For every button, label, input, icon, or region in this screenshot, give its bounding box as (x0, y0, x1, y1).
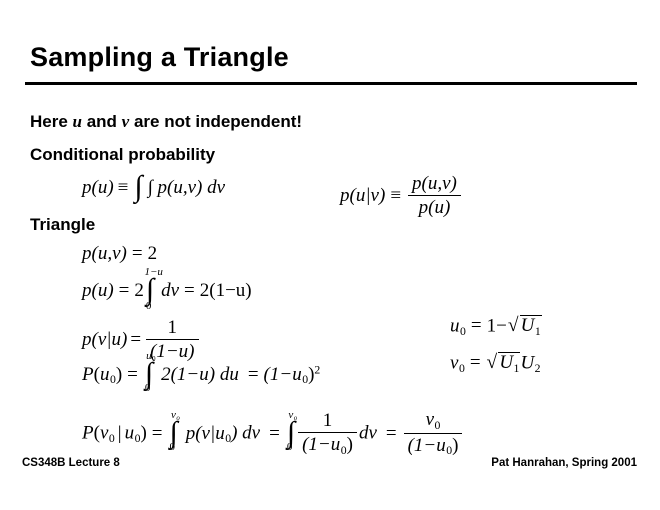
integral-upper-limit-1: 1−u (144, 267, 162, 278)
title-divider (25, 82, 637, 85)
equiv-symbol-2: ≡ (385, 185, 406, 206)
equation-cdf-u: P(u0)=u0∫02(1−u) du=(1−u0)2 (82, 363, 320, 388)
equiv-symbol: ≡ (114, 177, 133, 198)
cdf-v-frac-den-open: (1−u (302, 434, 340, 455)
integral-with-limits-1: 1−u∫0 (146, 278, 154, 303)
footer-lecture-label: CS348B Lecture 8 (22, 457, 120, 469)
cdf-u-symbol: P (82, 364, 94, 385)
fraction-cdf-v-integrand: 1(1−u0) (298, 410, 357, 457)
equals-symbol-1: = (127, 243, 148, 264)
marginal-lhs: p(u) (82, 177, 114, 198)
cdf-v-cond-var: u (125, 423, 135, 444)
int4-upper-sub: o (293, 415, 297, 422)
cdf-u-integrand: 2(1−u) du (154, 364, 239, 385)
cdf-v-frac-num: 1 (298, 410, 357, 433)
equation-joint-density: p(u,v)=2 (82, 244, 157, 263)
equals-symbol-5: = (466, 315, 487, 336)
cdf-v-result-num-sub: 0 (434, 419, 440, 432)
int2-upper-sub: 0 (152, 356, 156, 363)
equals-symbol-10: = (260, 423, 285, 444)
joint-rhs: 2 (148, 243, 158, 264)
cdf-u-result-exponent: 2 (314, 363, 320, 376)
integral-icon: ∫ (134, 175, 142, 199)
cdf-v-result-num: v0 (404, 409, 463, 434)
integral-upper-limit-4: vo (288, 410, 297, 423)
heading-independence-mid: and (82, 112, 122, 131)
radical-icon-2: √ (487, 353, 498, 372)
equals-symbol-2: = (114, 280, 135, 301)
cdf-v-result-den: (1−u0) (404, 434, 463, 458)
sample-v-radicand: U (499, 352, 513, 373)
equation-marginal-u: p(u)=21−u∫0dv=2(1−u) (82, 279, 252, 304)
int2-upper-var: u (146, 350, 152, 362)
cdf-v-integrand-tail: ) dv (231, 423, 260, 444)
cdf-v-symbol: P (82, 423, 94, 444)
cdf-v-var-sub: 0 (108, 432, 114, 445)
equation-sample-u: u0=1−√U1 (450, 315, 542, 338)
marginal-u-result: 2(1−u) (200, 280, 252, 301)
sample-v-lhs-sub: 0 (458, 362, 464, 375)
heading-independence-suffix: are not independent! (129, 112, 302, 131)
heading-triangle: Triangle (30, 215, 95, 235)
marginal-u-lhs: p(u) (82, 280, 114, 301)
integral-upper-limit-2: u0 (146, 351, 155, 364)
equals-symbol-8: = (239, 364, 264, 385)
sample-v-radicand-sub: 1 (513, 362, 519, 375)
sqrt-u1-b: √U1 (487, 352, 521, 375)
integral-with-limits-2: u0∫0 (145, 362, 153, 387)
int3-upper-sub: o (176, 415, 180, 422)
conditional-lhs: p(u|v) (340, 185, 385, 206)
slide-canvas: Sampling a Triangle Here u and v are not… (0, 0, 660, 510)
cdf-v-result-den-close: ) (452, 435, 458, 456)
integral-with-limits-4: vo∫0 (287, 421, 295, 446)
sample-u-lhs-sub: 0 (460, 325, 466, 338)
equation-sample-v: v0=√U1U2 (450, 352, 541, 375)
sqrt-u1: √U1 (508, 315, 542, 338)
integral-symbol-group: ∫ (134, 175, 142, 200)
equals-symbol-9: = (147, 423, 168, 444)
sqrt-u1-body: U1 (520, 315, 542, 337)
fraction-conditional: p(u,v)p(u) (408, 173, 461, 219)
sqrt-u1-b-body: U1 (498, 352, 520, 374)
equation-cdf-v: P(v0|u0)=vo∫0p(v|u0) dv=vo∫01(1−u0)dv=v0… (82, 410, 464, 458)
sample-u-lhs: u (450, 315, 460, 336)
integral-lower-limit-3: 0 (170, 442, 176, 453)
cond-v-lhs: p(v|u) (82, 329, 127, 350)
equals-symbol-4: = (127, 329, 144, 350)
fraction-denominator: p(u) (408, 196, 461, 218)
integral-lower-limit-4: 0 (287, 442, 293, 453)
variable-u: u (73, 112, 82, 131)
equation-conditional-definition: p(u|v)≡p(u,v)p(u) (340, 174, 463, 220)
equals-symbol-7: = (122, 364, 143, 385)
integral-lower-limit-1: 0 (146, 301, 152, 312)
sample-v-outside: U (520, 352, 534, 373)
marginal-u-integrand: dv (155, 280, 179, 301)
equation-marginal-definition: p(u)≡∫∫ p(u,v) dv (82, 176, 225, 201)
integral-with-limits-3: vo∫0 (170, 421, 178, 446)
fraction-numerator: p(u,v) (408, 173, 461, 196)
cond-v-numerator: 1 (146, 317, 198, 340)
sample-v-outside-sub: 2 (534, 362, 540, 375)
equals-symbol-6: = (465, 352, 486, 373)
joint-lhs: p(u,v) (82, 243, 127, 264)
footer-author-label: Pat Hanrahan, Spring 2001 (491, 457, 637, 469)
sample-u-radicand-sub: 1 (534, 325, 540, 338)
cdf-v-result-den-open: (1−u (408, 435, 446, 456)
cdf-u-result-base: (1−u (264, 364, 302, 385)
heading-independence-prefix: Here (30, 112, 73, 131)
marginal-u-coefficient: 2 (134, 280, 144, 301)
sample-u-radicand: U (521, 315, 535, 336)
heading-independence: Here u and v are not independent! (30, 112, 302, 132)
equals-symbol-11: = (377, 423, 402, 444)
sample-u-lead: 1− (487, 315, 507, 336)
cdf-v-close-paren: ) (140, 423, 146, 444)
cdf-v-frac-den: (1−u0) (298, 433, 357, 457)
cdf-v-result-num-var: v (426, 409, 434, 430)
integral-upper-limit-3: vo (171, 410, 180, 423)
heading-conditional-probability: Conditional probability (30, 145, 215, 165)
marginal-rhs: ∫ p(u,v) dv (144, 177, 225, 198)
equation-conditional-v-given-u: p(v|u)=1(1−u) (82, 318, 201, 364)
fraction-cdf-v-result: v0(1−u0) (404, 409, 463, 457)
cdf-v-frac-tail: dv (359, 423, 377, 444)
equals-symbol-3: = (179, 280, 200, 301)
integral-lower-limit-2: 0 (145, 383, 151, 394)
cdf-v-integrand-head: p(v|u (179, 423, 225, 444)
cdf-v-frac-den-close: ) (347, 434, 353, 455)
cdf-u-var: u (100, 364, 110, 385)
page-title: Sampling a Triangle (30, 42, 289, 73)
integral-icon-2: ∫ (146, 278, 154, 302)
cdf-v-bar: | (115, 423, 125, 444)
radical-icon-1: √ (508, 316, 519, 335)
